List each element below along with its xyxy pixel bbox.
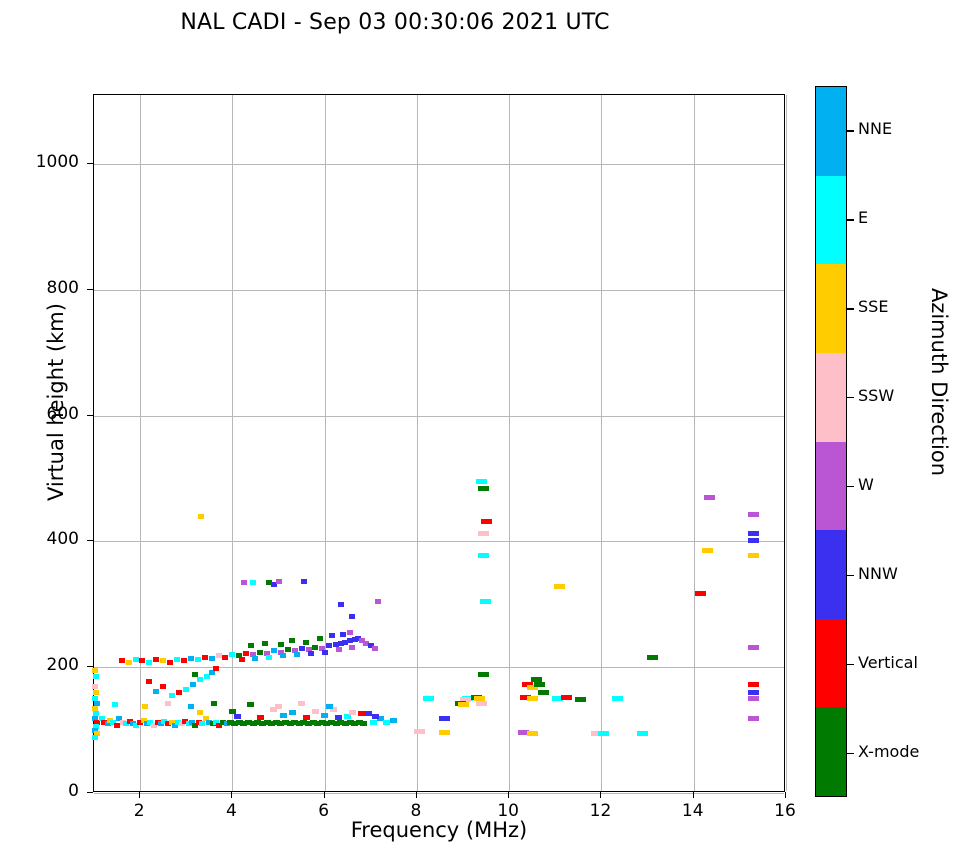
scatter-point [285, 647, 291, 652]
x-tick [416, 792, 417, 798]
scatter-point [531, 677, 542, 682]
scatter-point [183, 687, 189, 692]
scatter-point [211, 701, 217, 706]
colorbar-band-ssw [816, 353, 846, 442]
x-tick [231, 792, 232, 798]
scatter-point [139, 658, 145, 663]
x-tick [693, 792, 694, 798]
y-tick [87, 415, 93, 416]
scatter-point [390, 718, 397, 723]
colorbar-label-sse: SSE [858, 297, 888, 316]
scatter-point [303, 715, 310, 720]
scatter-point [241, 580, 247, 585]
scatter-point [202, 655, 208, 660]
scatter-point [336, 647, 342, 652]
scatter-point [748, 696, 759, 701]
scatter-point [188, 656, 194, 661]
scatter-point [637, 731, 648, 736]
scatter-point [748, 645, 759, 650]
colorbar-tick [847, 308, 854, 309]
colorbar-label: Azimuth Direction [927, 232, 951, 532]
scatter-point [222, 655, 228, 660]
page-title: NAL CADI - Sep 03 00:30:06 2021 UTC [0, 10, 790, 35]
scatter-point [349, 645, 355, 650]
scatter-point [234, 714, 241, 719]
scatter-point [312, 645, 318, 650]
colorbar-tick [847, 575, 854, 576]
scatter-point [335, 715, 342, 720]
scatter-point [250, 580, 256, 585]
scatter-point [748, 682, 759, 687]
scatter-point [197, 677, 203, 682]
scatter-point [612, 696, 623, 701]
scatter-point [195, 657, 201, 662]
scatter-point [478, 531, 489, 536]
scatter-point [322, 650, 328, 655]
scatter-point [704, 495, 715, 500]
scatter-point [372, 714, 379, 719]
scatter-point [181, 658, 187, 663]
scatter-point [146, 660, 152, 665]
scatter-point [329, 633, 335, 638]
scatter-point [252, 656, 258, 661]
gridline-vertical [786, 95, 787, 791]
scatter-point [748, 538, 759, 543]
scatter-point [176, 690, 182, 695]
y-tick-label: 0 [9, 781, 79, 801]
scatter-point [478, 553, 489, 558]
scatter-point [153, 657, 159, 662]
scatter-point [647, 655, 658, 660]
scatter-point [239, 657, 245, 662]
scatter-point [312, 709, 319, 714]
colorbar [815, 86, 847, 797]
scatter-point [748, 553, 759, 558]
scatter-point [133, 657, 139, 662]
scatter-point [308, 651, 314, 656]
scatter-point [527, 696, 538, 701]
colorbar-tick [847, 130, 854, 131]
scatter-point [126, 660, 132, 665]
colorbar-band-vertical [816, 619, 846, 708]
colorbar-label-w: W [858, 475, 874, 494]
scatter-point [213, 666, 219, 671]
scatter-point [92, 735, 98, 740]
scatter-point [561, 695, 572, 700]
scatter-point [423, 696, 434, 701]
scatter-point [229, 709, 236, 714]
scatter-point [372, 646, 378, 651]
scatter-point [247, 702, 254, 707]
y-axis-label: Virtual height (km) [44, 252, 68, 552]
scatter-point [198, 514, 204, 519]
scatter-point [748, 716, 759, 721]
scatter-point [575, 697, 586, 702]
colorbar-tick [847, 753, 854, 754]
scatter-point [414, 729, 425, 734]
scatter-point [702, 548, 713, 553]
scatter-point [280, 713, 287, 718]
colorbar-band-w [816, 442, 846, 531]
scatter-point [326, 704, 333, 709]
scatter-point [748, 690, 759, 695]
scatter-point [271, 648, 277, 653]
scatter-point [301, 579, 307, 584]
scatter-point [93, 690, 99, 695]
scatter-point [257, 715, 264, 720]
x-tick [508, 792, 509, 798]
x-tick [324, 792, 325, 798]
scatter-point [276, 579, 282, 584]
scatter-point [192, 672, 198, 677]
scatter-point [476, 479, 487, 484]
y-tick-label: 200 [9, 655, 79, 675]
scatter-point [476, 701, 487, 706]
y-tick-label: 1000 [9, 152, 79, 172]
scatter-point [142, 704, 148, 709]
scatter-point [480, 599, 491, 604]
scatter-point [280, 653, 286, 658]
scatter-point [190, 682, 196, 687]
scatter-point [538, 690, 549, 695]
colorbar-label-ssw: SSW [858, 386, 894, 405]
colorbar-label-nne: NNE [858, 119, 892, 138]
scatter-point [216, 653, 222, 658]
x-axis-label: Frequency (MHz) [93, 818, 785, 842]
scatter-point [169, 693, 175, 698]
scatter-point [478, 486, 489, 491]
scatter-point [209, 656, 215, 661]
scatter-point [349, 710, 356, 715]
scatter-point [92, 668, 98, 673]
colorbar-label-nnw: NNW [858, 564, 898, 583]
scatter-point [554, 584, 565, 589]
scatter-point [165, 701, 171, 706]
scatter-point [458, 702, 469, 707]
y-tick [87, 792, 93, 793]
scatter-point [326, 643, 332, 648]
y-tick [87, 540, 93, 541]
scatter-point [153, 689, 159, 694]
scatter-point [160, 684, 166, 689]
y-tick [87, 666, 93, 667]
y-tick [87, 289, 93, 290]
scatter-point [294, 652, 300, 657]
scatter-point [257, 650, 263, 655]
scatter-point [375, 599, 381, 604]
scatter-point [439, 730, 450, 735]
scatter-point [349, 614, 355, 619]
scatter-point [340, 632, 346, 637]
ionogram-figure: NAL CADI - Sep 03 00:30:06 2021 UTC 2468… [0, 0, 958, 857]
colorbar-label-e: E [858, 208, 868, 227]
scatter-point [188, 704, 194, 709]
colorbar-band-sse [816, 264, 846, 353]
scatter-point [439, 716, 450, 721]
scatter-point [93, 674, 99, 679]
scatter-point [317, 636, 323, 641]
scatter-point [278, 642, 284, 647]
scatter-point [197, 710, 203, 715]
scatter-point [146, 679, 152, 684]
scatter-point [266, 655, 272, 660]
scatter-point [298, 701, 305, 706]
gridline-horizontal [94, 793, 784, 794]
colorbar-band-x-mode [816, 707, 846, 796]
scatter-point [92, 684, 98, 689]
scatter-point [119, 658, 125, 663]
scatter-point [534, 682, 545, 687]
scatter-point [167, 660, 173, 665]
scatter-point [262, 641, 268, 646]
scatter-point [243, 651, 249, 656]
scatter-point [174, 657, 180, 662]
scatter-point [199, 721, 205, 726]
colorbar-band-nnw [816, 530, 846, 619]
scatter-point [360, 721, 367, 726]
scatter-point [160, 658, 166, 663]
x-tick [785, 792, 786, 798]
colorbar-band-nne [816, 87, 846, 176]
colorbar-label-vertical: Vertical [858, 653, 918, 672]
scatter-point [598, 731, 609, 736]
colorbar-tick [847, 397, 854, 398]
scatter-point [229, 652, 235, 657]
scatter-point [695, 591, 706, 596]
scatter-point [112, 702, 118, 707]
colorbar-label-x-mode: X-mode [858, 742, 919, 761]
plot-area [93, 94, 785, 792]
y-tick [87, 163, 93, 164]
scatter-point [748, 531, 759, 536]
colorbar-tick [847, 664, 854, 665]
scatter-point [248, 643, 254, 648]
x-tick [139, 792, 140, 798]
colorbar-tick [847, 219, 854, 220]
scatter-point [289, 710, 296, 715]
scatter-point [303, 640, 309, 645]
scatter-point [481, 519, 492, 524]
colorbar-band-e [816, 176, 846, 265]
scatter-point [338, 602, 344, 607]
scatter-point [478, 672, 489, 677]
scatter-point [275, 704, 282, 709]
scatter-point [289, 638, 295, 643]
scatter-points-layer [94, 95, 784, 791]
x-tick [600, 792, 601, 798]
scatter-point [347, 630, 353, 635]
scatter-point [321, 713, 328, 718]
scatter-point [748, 512, 759, 517]
scatter-point [527, 731, 538, 736]
colorbar-tick [847, 486, 854, 487]
scatter-point [299, 646, 305, 651]
